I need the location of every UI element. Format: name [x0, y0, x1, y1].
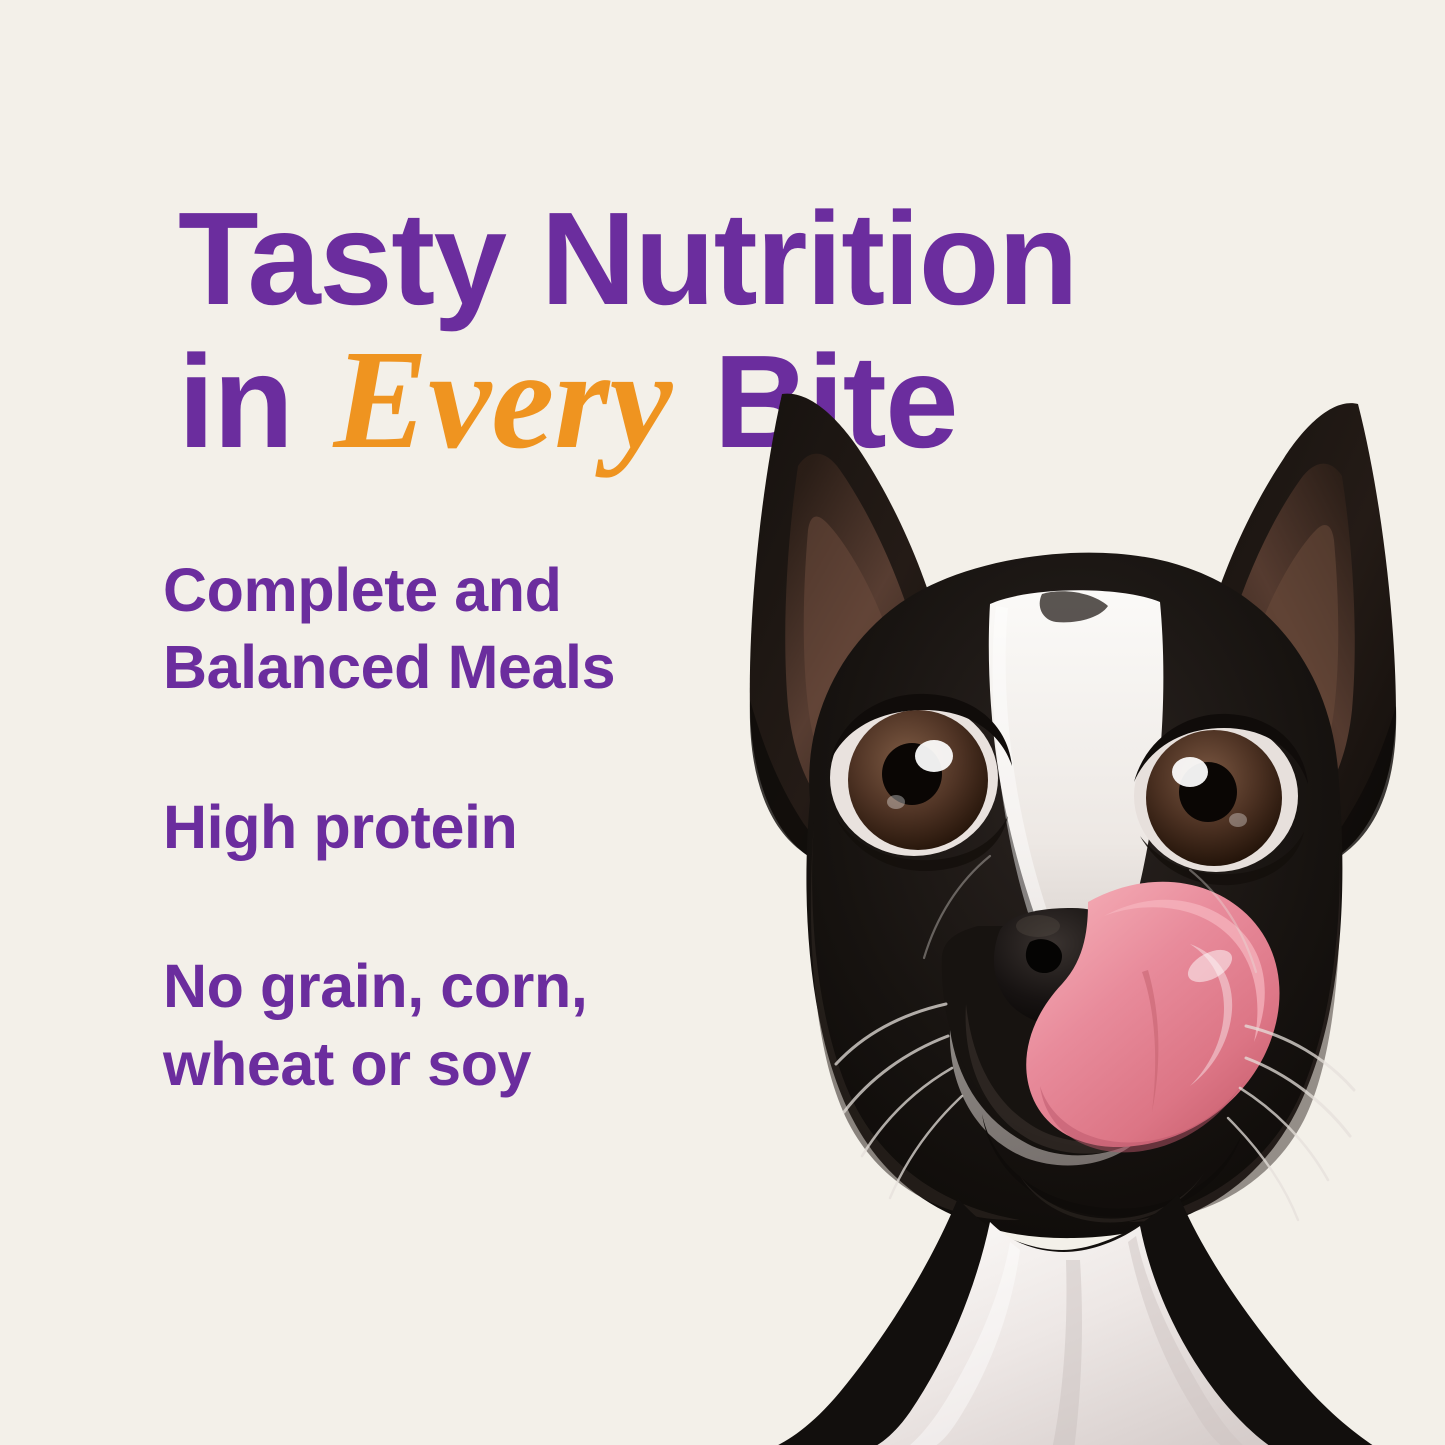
dog-eye-right [1134, 714, 1308, 885]
benefit-line: No grain, corn, [163, 948, 723, 1025]
dog-photo [690, 370, 1445, 1445]
boston-terrier-illustration [690, 370, 1445, 1445]
headline-emphasis-every: Every [327, 320, 678, 478]
benefit-line: High protein [163, 789, 723, 866]
benefit-line: Balanced Meals [163, 629, 723, 706]
benefit-item-no-grain-corn-wheat-soy: No grain, corn, wheat or soy [163, 948, 723, 1103]
headline-line-2-prefix: in [178, 328, 327, 475]
benefit-list: Complete and Balanced Meals High protein… [163, 552, 723, 1103]
headline-line-1: Tasty Nutrition [178, 192, 1298, 327]
product-benefits-banner: Tasty Nutrition in Every Bite Complete a… [0, 0, 1445, 1445]
dog-eye-left [830, 694, 1012, 871]
benefit-line: wheat or soy [163, 1026, 723, 1103]
benefit-line: Complete and [163, 552, 723, 629]
benefit-item-high-protein: High protein [163, 789, 723, 866]
benefit-item-complete-balanced-meals: Complete and Balanced Meals [163, 552, 723, 707]
